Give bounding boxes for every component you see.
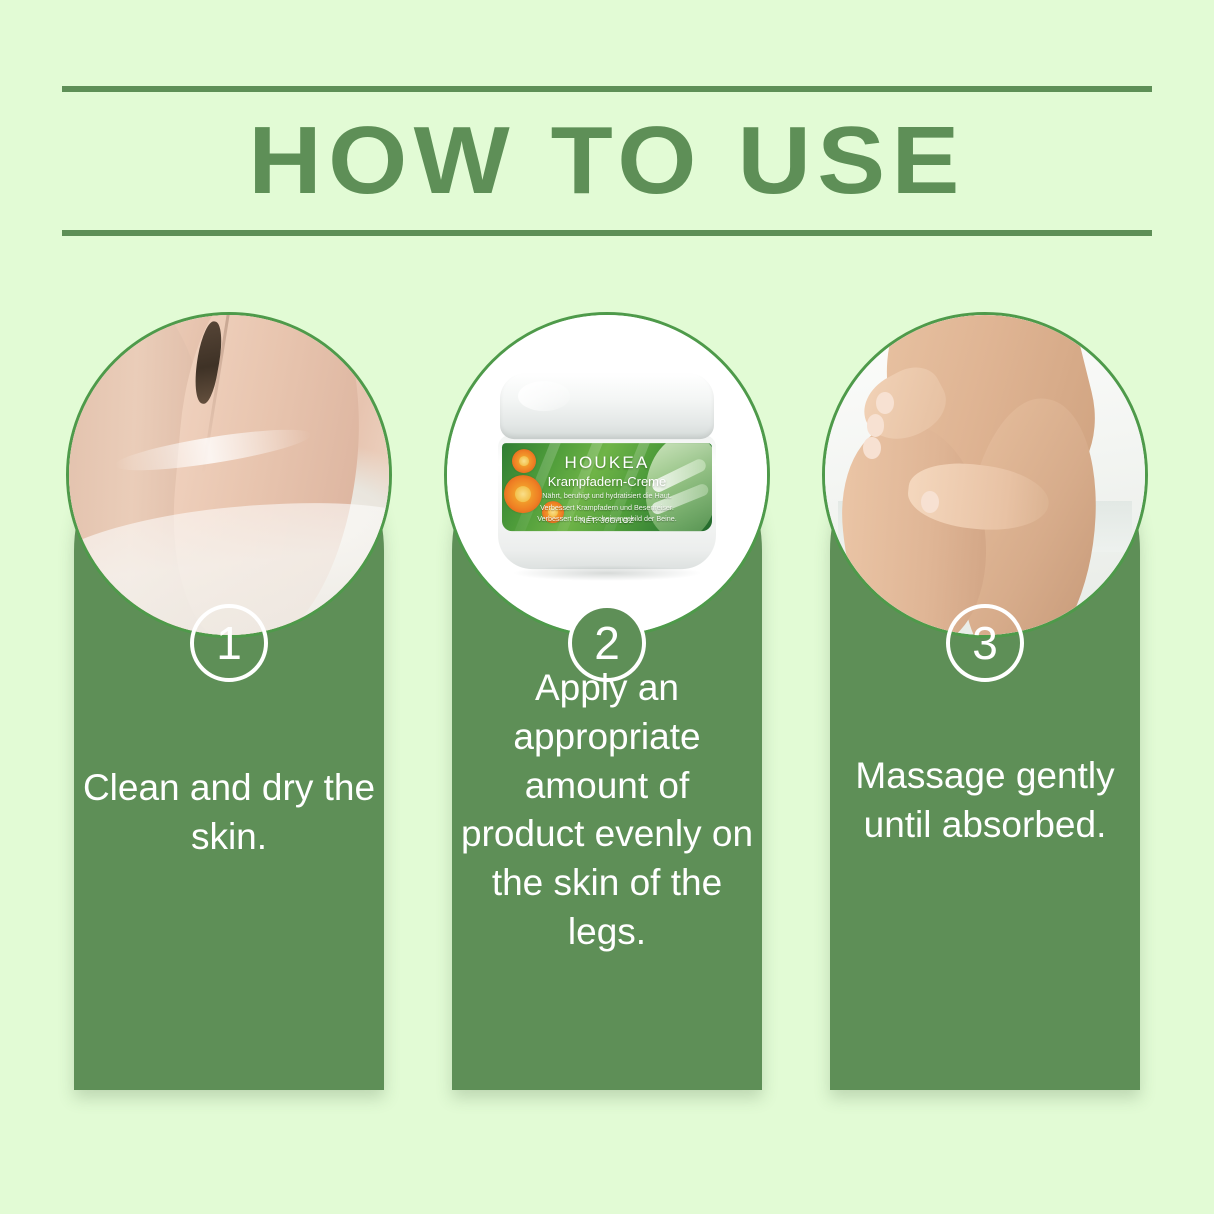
legs-in-water-photo <box>66 312 392 638</box>
step-caption-3: Massage gently until absorbed. <box>838 752 1132 850</box>
step-caption-1: Clean and dry the skin. <box>82 764 376 862</box>
page-title: HOW TO USE <box>29 86 1184 236</box>
title-bottom-rule <box>62 230 1152 236</box>
jar-lid <box>500 373 714 439</box>
legs-massage-photo <box>822 312 1148 638</box>
product-jar-photo: HOUKEA Krampfadern-Creme Nährt, beruhigt… <box>444 312 770 638</box>
product-jar: HOUKEA Krampfadern-Creme Nährt, beruhigt… <box>498 373 716 569</box>
step-card-2: HOUKEA Krampfadern-Creme Nährt, beruhigt… <box>452 312 762 1090</box>
step-badge-1: 1 <box>190 604 268 682</box>
step-number-3: 3 <box>972 620 998 666</box>
step-number-2: 2 <box>594 620 620 666</box>
jar-label: HOUKEA Krampfadern-Creme Nährt, beruhigt… <box>502 443 712 531</box>
product-brand: HOUKEA <box>502 453 712 473</box>
steps-container: 1 Clean and dry the skin. <box>0 312 1214 1102</box>
step-caption-2: Apply an appropriate amount of product e… <box>460 664 754 957</box>
product-name: Krampfadern-Creme <box>502 474 712 489</box>
header: HOW TO USE <box>62 86 1152 236</box>
step-card-1: 1 Clean and dry the skin. <box>74 312 384 1090</box>
how-to-use-poster: HOW TO USE 1 Clean and dry the skin. <box>0 0 1214 1214</box>
step-card-3: 3 Massage gently until absorbed. <box>830 312 1140 1090</box>
step-badge-3: 3 <box>946 604 1024 682</box>
product-net-weight: NET: 30G/1OZ <box>502 516 712 525</box>
step-number-1: 1 <box>216 620 242 666</box>
